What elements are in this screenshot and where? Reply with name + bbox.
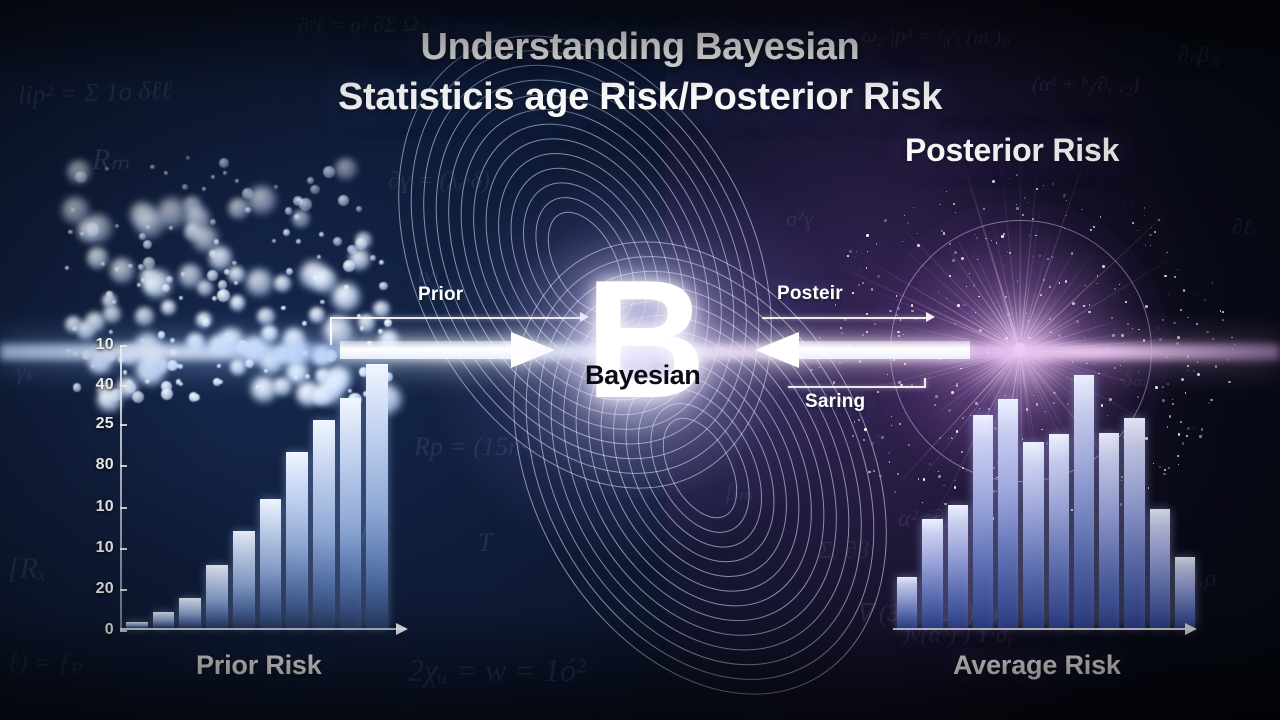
edge-vignette — [0, 0, 1280, 720]
infographic-canvas: lip² = Σ 1o δℓℓRₘ∂ᵖℓ = σ² ∂Σ Ω₂ω₂ |p³ = … — [0, 0, 1280, 720]
